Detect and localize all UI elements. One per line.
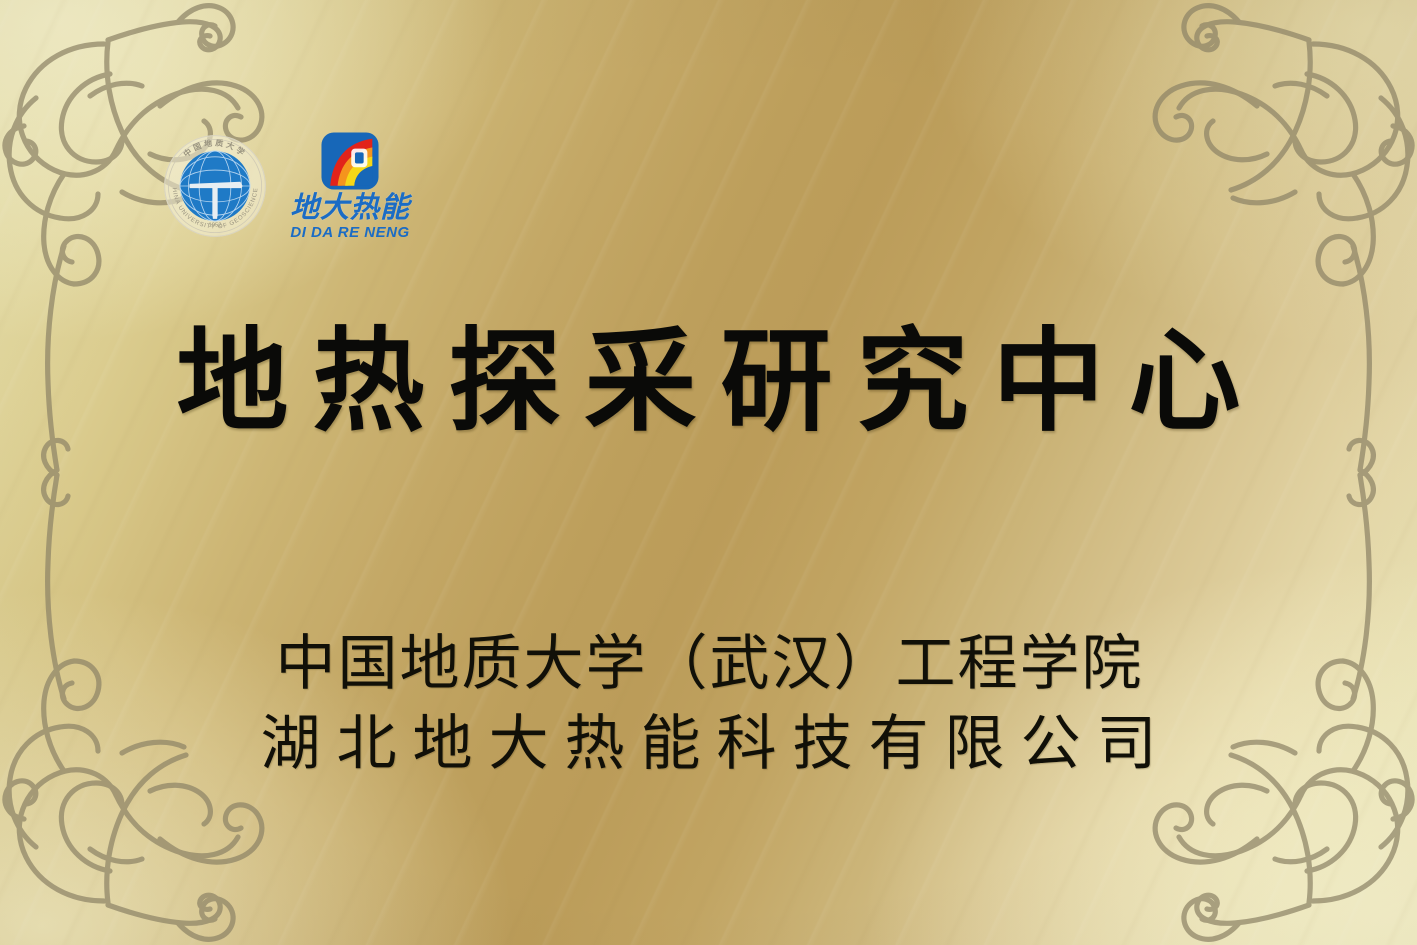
didareneng-logo: 地大热能 DI DA RE NENG xyxy=(290,130,410,241)
logo-row: 中国地质大学 CHINA UNIVERSITY OF GEOSCIENCES 1… xyxy=(162,130,410,241)
plaque-subtitle-line-2: 湖北地大热能科技有限公司 xyxy=(0,705,1417,785)
didareneng-name-cn: 地大热能 xyxy=(290,193,410,222)
didareneng-mark-icon xyxy=(319,130,381,192)
plaque-subtitles: 中国地质大学（武汉）工程学院 湖北地大热能科技有限公司 xyxy=(0,625,1417,785)
didareneng-name-en: DI DA RE NENG xyxy=(290,224,409,241)
plaque-title: 地热探采研究中心 xyxy=(0,326,1417,438)
award-plaque: 中国地质大学 CHINA UNIVERSITY OF GEOSCIENCES 1… xyxy=(0,0,1417,945)
china-university-of-geosciences-seal-icon: 中国地质大学 CHINA UNIVERSITY OF GEOSCIENCES 1… xyxy=(162,133,268,239)
svg-text:1952: 1952 xyxy=(209,222,222,228)
plaque-subtitle-line-1: 中国地质大学（武汉）工程学院 xyxy=(0,625,1417,705)
